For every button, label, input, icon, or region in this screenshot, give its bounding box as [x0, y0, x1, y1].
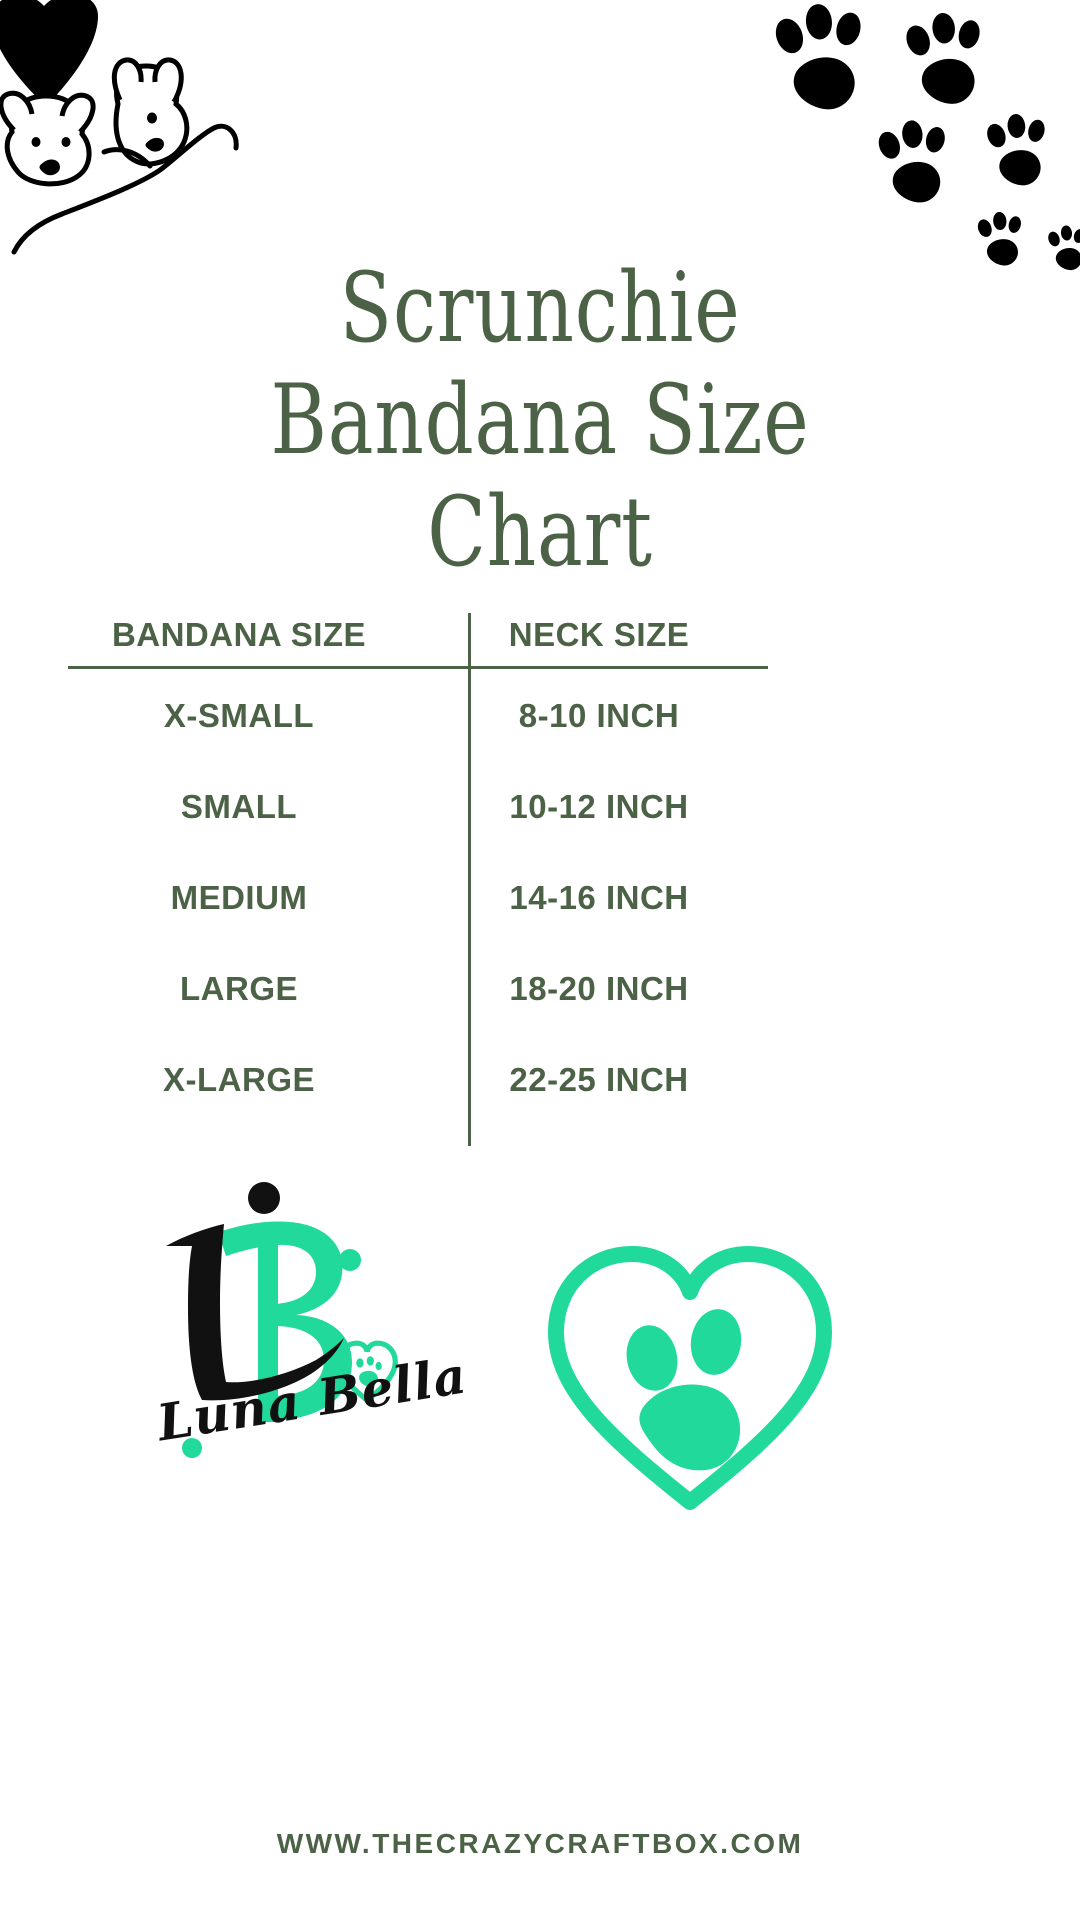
cell-neck-size: 18-20 INCH: [424, 943, 774, 1034]
puppy-left: [7, 96, 89, 184]
cell-neck-size: 22-25 INCH: [424, 1034, 774, 1125]
heart-shape: [0, 0, 98, 106]
hand-thumb: [104, 150, 150, 166]
cell-bandana-size: MEDIUM: [64, 852, 414, 943]
cell-bandana-size: LARGE: [64, 943, 414, 1034]
puppy-left-eye-1: [32, 137, 41, 147]
puppy-right-eye: [147, 113, 157, 124]
table-header-divider: [68, 666, 768, 669]
puppy-right-nose: [146, 138, 165, 152]
puppy-left-ear-right: [62, 95, 93, 132]
hand-outline: [14, 126, 236, 252]
paw-print: [621, 1306, 746, 1471]
title-line-2: Bandana Size: [108, 364, 972, 476]
puppy-left-ear-left: [1, 93, 32, 130]
puppy-left-nose: [40, 160, 61, 176]
table-row: SMALL 10-12 INCH: [68, 761, 768, 852]
puppy-left-eye-2: [62, 137, 71, 147]
cell-bandana-size: X-SMALL: [64, 670, 414, 761]
table-row: X-SMALL 8-10 INCH: [68, 670, 768, 761]
table-column-divider: [468, 613, 471, 1146]
cell-neck-size: 10-12 INCH: [424, 761, 774, 852]
heart-paw-emblem: [540, 1230, 840, 1520]
size-chart-table: BANDANA SIZE NECK SIZE X-SMALL 8-10 INCH…: [68, 610, 768, 1125]
column-header-bandana-size: BANDANA SIZE: [64, 610, 414, 670]
page-title: Scrunchie Bandana Size Chart: [0, 252, 1080, 588]
paw-icon: [771, 3, 864, 109]
puppy-right: [116, 66, 187, 164]
cell-bandana-size: X-LARGE: [64, 1034, 414, 1125]
table-row: LARGE 18-20 INCH: [68, 943, 768, 1034]
cell-bandana-size: SMALL: [64, 761, 414, 852]
table-row: MEDIUM 14-16 INCH: [68, 852, 768, 943]
paw-icon: [984, 113, 1047, 185]
table-row: X-LARGE 22-25 INCH: [68, 1034, 768, 1125]
puppy-right-ear-left: [114, 60, 141, 100]
title-line-3: Chart: [108, 476, 972, 588]
logo-dot-black: [248, 1182, 280, 1214]
paw-icon: [875, 119, 947, 202]
title-line-1: Scrunchie: [108, 252, 972, 364]
footer-url[interactable]: WWW.THECRAZYCRAFTBOX.COM: [0, 1828, 1080, 1860]
table-body: X-SMALL 8-10 INCH SMALL 10-12 INCH MEDIU…: [68, 670, 768, 1125]
column-header-neck-size: NECK SIZE: [424, 610, 774, 670]
cell-neck-size: 14-16 INCH: [424, 852, 774, 943]
cell-neck-size: 8-10 INCH: [424, 670, 774, 761]
puppy-right-ear-right: [155, 60, 181, 102]
paw-icon: [902, 12, 982, 104]
table-header-row: BANDANA SIZE NECK SIZE: [68, 610, 768, 670]
